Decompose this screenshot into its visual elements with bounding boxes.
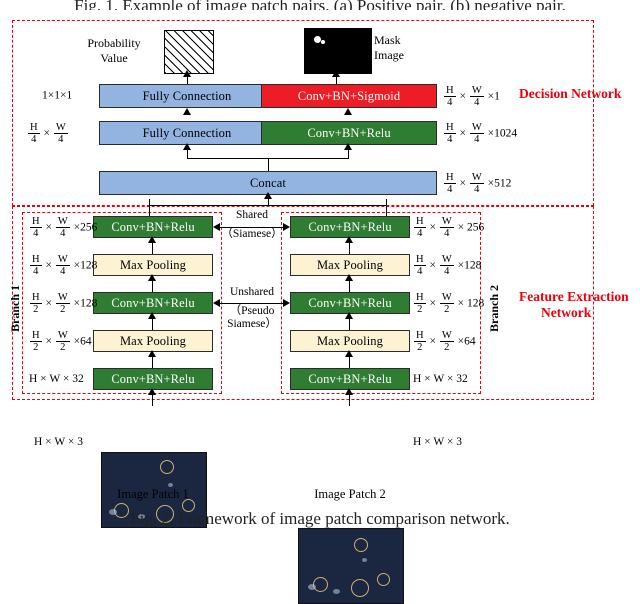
dim-fc-bottom-left: H 4 × W 4 [27, 122, 69, 145]
dim-tail-l1: ×256 [74, 222, 98, 234]
shared-label-line2: （Siamese） [211, 228, 293, 241]
dim-tail-r4: ×64 [458, 336, 476, 348]
block-branch2-conv2[interactable]: Conv+BN+Relu [290, 292, 410, 314]
dim-times-c: × [459, 128, 466, 140]
figure-canvas: Fig. 1. Example of image patch pairs. (a… [0, 0, 640, 534]
dim-frac-w4-c: W 4 [470, 122, 484, 145]
probability-value-label-line1: Probability [70, 36, 158, 50]
dim-frac-r4-h: H2 [414, 330, 426, 353]
mask-image-label-line2: Image [374, 48, 438, 62]
dim-frac-l2-w: W4 [56, 254, 70, 277]
dim-frac-w4-d: W 4 [470, 172, 484, 195]
probability-value-label-line2: Value [70, 51, 158, 65]
block-fully-connection-bottom[interactable]: Fully Connection [99, 121, 275, 145]
dim-frac-h4-d: H 4 [444, 172, 456, 195]
image-patch-2 [298, 528, 404, 604]
branch2-arrow3-head [345, 312, 353, 319]
dim-tail-a: ×1 [488, 91, 500, 103]
dim-tail-r1: × 256 [458, 222, 485, 234]
dim-tail-l2: ×128 [74, 260, 98, 272]
block-fully-connection-top[interactable]: Fully Connection [99, 84, 275, 108]
branch2-arrow-input-head [345, 388, 353, 395]
branch1-arrow3-head [148, 312, 156, 319]
dim-branch2-r4: H2 × W2 ×64 [413, 330, 476, 353]
dim-frac-h4-b: H 4 [28, 122, 40, 145]
dim-frac-r3-h: H2 [414, 292, 426, 315]
block-conv-bn-sigmoid[interactable]: Conv+BN+Sigmoid [261, 84, 437, 108]
dim-branch2-r1: H4 × W4 × 256 [413, 216, 484, 239]
dim-branch2-r2: H4 × W4 ×128 [413, 254, 481, 277]
block-branch1-conv3[interactable]: Conv+BN+Relu [93, 368, 213, 390]
figure-caption-bottom: Fig. 2. Framework of image patch compari… [0, 508, 640, 534]
dim-branch1-l5: H × W × 32 [29, 373, 84, 385]
dim-times-b: × [43, 128, 50, 140]
branch1-arrow2-head [148, 274, 156, 281]
dim-conv-relu-decision-right: H 4 × W 4 ×1024 [443, 122, 517, 145]
dim-tail-c: ×1024 [488, 128, 518, 140]
dim-frac-r2-h: H4 [414, 254, 426, 277]
branch2-label: Branch 2 [487, 278, 502, 338]
dim-tail-r3: × 128 [458, 298, 485, 310]
unshared-label-line1: Unshared [214, 286, 290, 299]
block-conv-bn-relu-decision[interactable]: Conv+BN+Relu [261, 121, 437, 145]
concat-to-split-stem [268, 158, 269, 172]
block-branch1-pool1[interactable]: Max Pooling [93, 254, 213, 276]
decision-network-label: Decision Network [519, 86, 639, 102]
branch2-arrow4-head [345, 350, 353, 357]
dim-tail-l3: ×128 [74, 298, 98, 310]
dim-frac-r3-w: W2 [440, 292, 454, 315]
dim-branch1-l3: H2 × W2 ×128 [29, 292, 97, 315]
concat-split-left-head [183, 143, 191, 150]
branch1-arrow-input-head [148, 388, 156, 395]
dim-branch1-l2: H4 × W4 ×128 [29, 254, 97, 277]
arrow-sigmoid-to-mask-head [332, 70, 340, 77]
dim-times-d: × [459, 178, 466, 190]
unshared-label-line3: Siamese） [214, 318, 290, 331]
dim-frac-l2-h: H4 [30, 254, 42, 277]
dim-frac-w4-a: W 4 [470, 85, 484, 108]
block-branch2-conv3[interactable]: Conv+BN+Relu [290, 368, 410, 390]
figure-caption-top: Fig. 1. Example of image patch pairs. (a… [0, 0, 640, 10]
dim-tail-r2: ×128 [458, 260, 482, 272]
dim-branch1-l4: H2 × W2 ×64 [29, 330, 92, 353]
block-branch1-conv1[interactable]: Conv+BN+Relu [93, 216, 213, 238]
dim-frac-r2-w: W4 [440, 254, 454, 277]
dim-branch2-r3: H2 × W2 × 128 [413, 292, 484, 315]
dim-frac-l1-w: W4 [56, 216, 70, 239]
dim-patch-right: H × W × 3 [413, 436, 462, 448]
image-patch-2-caption: Image Patch 2 [290, 487, 410, 502]
mask-image-thumbnail [304, 28, 372, 74]
probability-value-swatch [164, 30, 214, 74]
dim-fc-top-left-text: 1×1×1 [42, 89, 72, 101]
dim-frac-h4-c: H 4 [444, 122, 456, 145]
arrow-fc-to-probability-head [183, 70, 191, 77]
branch2-arrow1-head [345, 236, 353, 243]
dim-fc-top-left: 1×1×1 [42, 89, 72, 101]
branch1-arrow4-head [148, 350, 156, 357]
dim-concat-right: H 4 × W 4 ×512 [443, 172, 511, 195]
branch1-arrow1-head [148, 236, 156, 243]
feature-extraction-label-line1: Feature Extraction [519, 289, 640, 305]
dim-frac-l3-w: W2 [56, 292, 70, 315]
block-branch1-pool2[interactable]: Max Pooling [93, 330, 213, 352]
dim-branch1-l1: H4 × W4 ×256 [29, 216, 97, 239]
block-branch2-conv1[interactable]: Conv+BN+Relu [290, 216, 410, 238]
branch2-arrow2-head [345, 274, 353, 281]
arrow-convrelu-to-sigmoid-head [344, 108, 352, 115]
branch1-label: Branch 1 [8, 278, 23, 338]
dim-branch2-r5: H × W × 32 [413, 373, 468, 385]
dim-tail-d: ×512 [488, 178, 512, 190]
dim-frac-l3-h: H2 [30, 292, 42, 315]
concat-split-right-head [344, 143, 352, 150]
dim-frac-h4-a: H 4 [444, 85, 456, 108]
dim-tail-l4: ×64 [74, 336, 92, 348]
concat-merge-head [264, 192, 272, 199]
dim-frac-r1-w: W4 [440, 216, 454, 239]
dim-conv-sigmoid-right: H 4 × W 4 ×1 [443, 85, 500, 108]
shared-label-line1: Shared [214, 209, 290, 222]
dim-patch-left: H × W × 3 [34, 436, 83, 448]
mask-image-label-line1: Mask [374, 33, 438, 47]
dim-times-a: × [459, 91, 466, 103]
dim-frac-w4-b: W 4 [54, 122, 68, 145]
block-branch2-pool1[interactable]: Max Pooling [290, 254, 410, 276]
unshared-label-line2: （Pseudo [214, 305, 290, 318]
dim-frac-l4-w: W2 [56, 330, 70, 353]
feature-extraction-label-line2: Network [541, 305, 640, 321]
dim-frac-l4-h: H2 [30, 330, 42, 353]
image-patch-1-caption: Image Patch 1 [93, 487, 213, 502]
block-branch2-pool2[interactable]: Max Pooling [290, 330, 410, 352]
arrow-fcbottom-to-fctop-head [183, 108, 191, 115]
dim-frac-l1-h: H4 [30, 216, 42, 239]
dim-frac-r1-h: H4 [414, 216, 426, 239]
dim-frac-r4-w: W2 [440, 330, 454, 353]
block-branch1-conv2[interactable]: Conv+BN+Relu [93, 292, 213, 314]
